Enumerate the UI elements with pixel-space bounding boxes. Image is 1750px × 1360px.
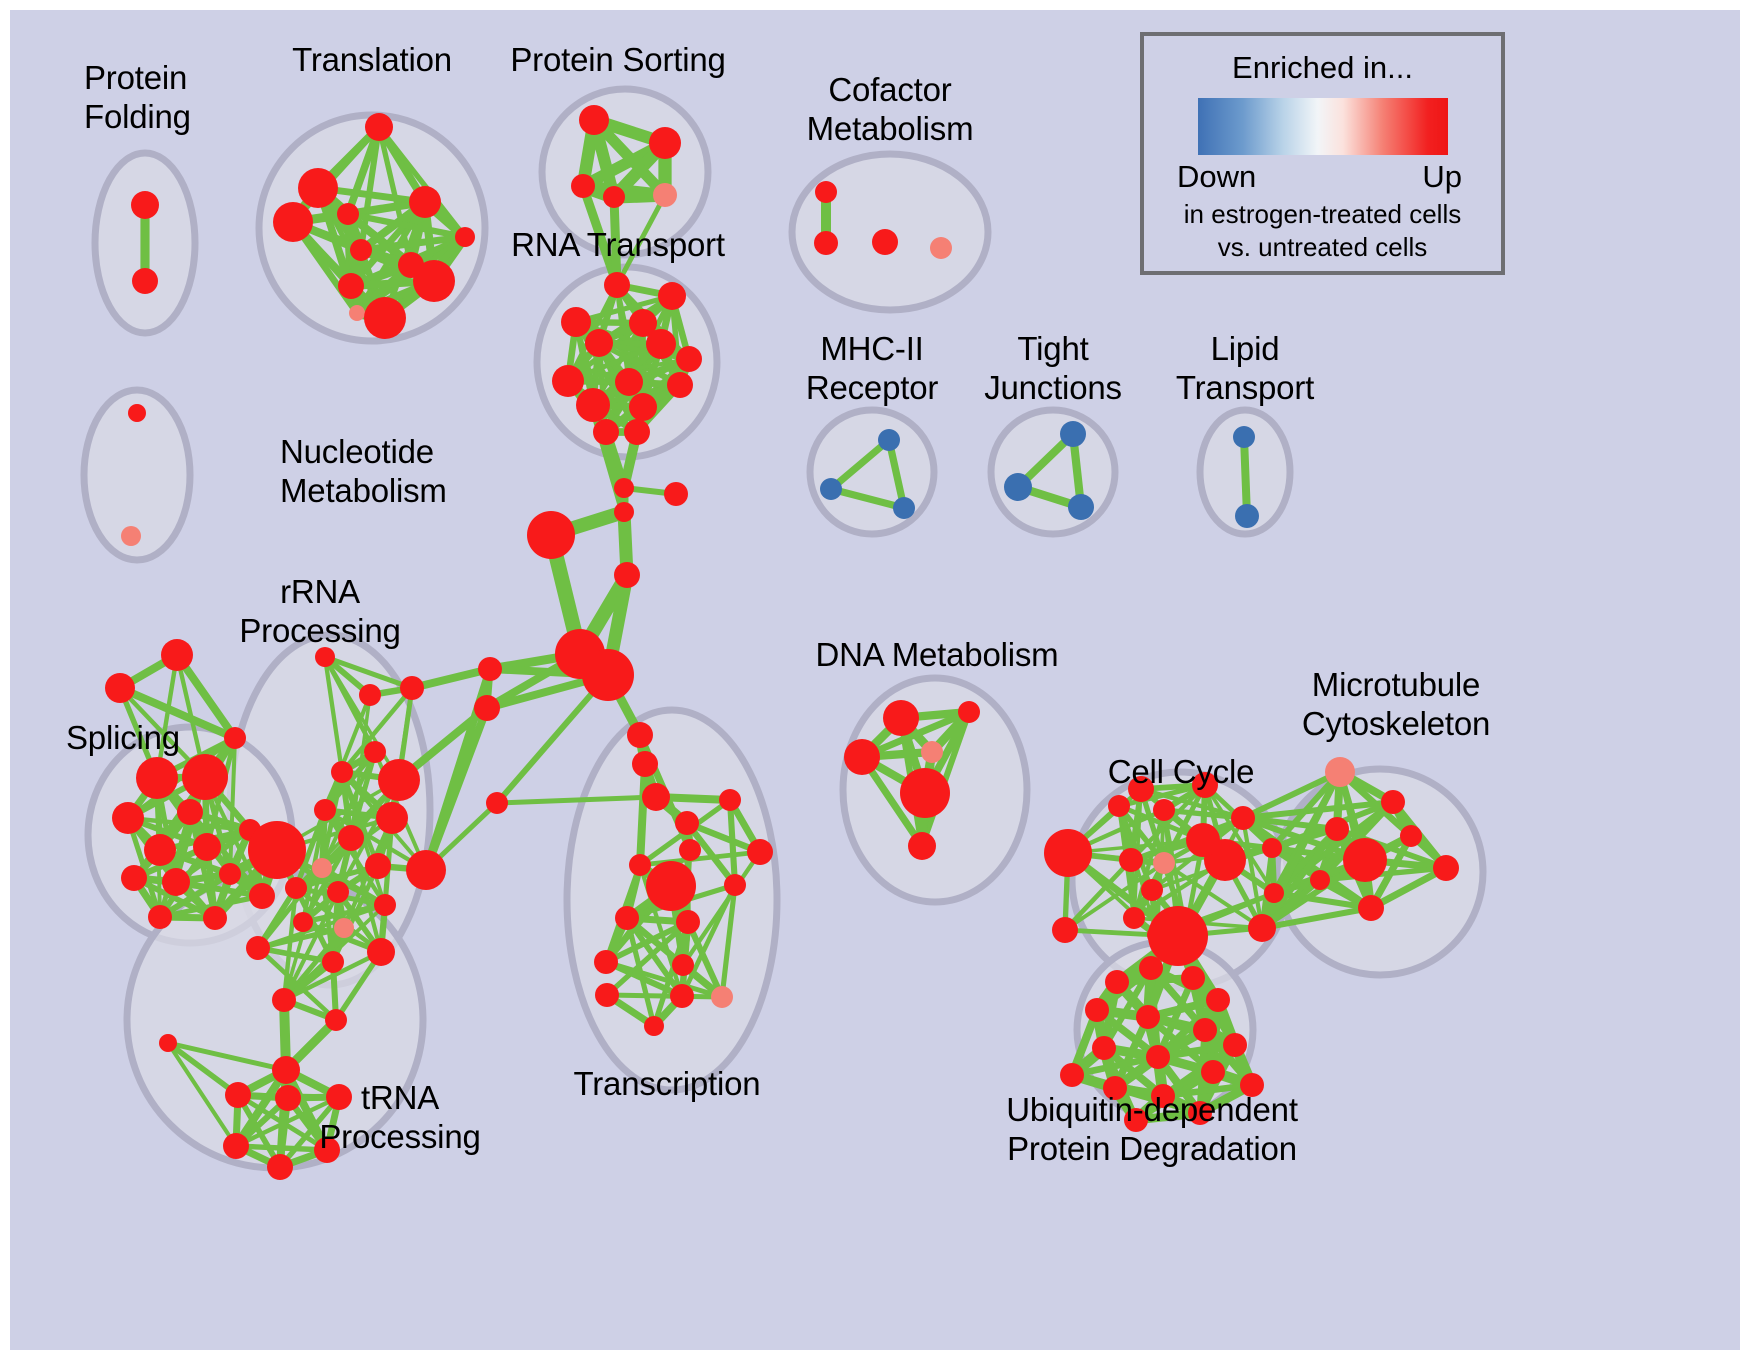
network-node[interactable]: [315, 647, 335, 667]
network-edge: [412, 669, 490, 688]
network-node[interactable]: [132, 268, 158, 294]
network-node[interactable]: [1201, 1060, 1225, 1084]
network-node[interactable]: [1044, 829, 1092, 877]
network-node[interactable]: [1153, 799, 1175, 821]
cluster-label-trna-processing: tRNAProcessing: [319, 1078, 480, 1156]
network-node[interactable]: [1108, 795, 1130, 817]
network-node[interactable]: [1052, 917, 1078, 943]
network-node[interactable]: [1060, 1063, 1084, 1087]
cluster-region-mhc-ii-receptor[interactable]: [810, 410, 934, 534]
cluster-label-protein-sorting: Protein Sorting: [510, 40, 725, 79]
network-node[interactable]: [878, 429, 900, 451]
network-node[interactable]: [679, 839, 701, 861]
legend-box: Enriched in... Down Up in estrogen-treat…: [1140, 32, 1505, 275]
cluster-label-cell-cycle: Cell Cycle: [1108, 752, 1255, 791]
network-node[interactable]: [364, 741, 386, 763]
network-node[interactable]: [649, 127, 681, 159]
network-node[interactable]: [724, 874, 746, 896]
network-node[interactable]: [1092, 1036, 1116, 1060]
network-node[interactable]: [219, 863, 241, 885]
legend-caption-line-2: vs. untreated cells: [1144, 232, 1501, 263]
figure-canvas: ProteinFoldingTranslationProtein Sorting…: [0, 0, 1750, 1360]
network-node[interactable]: [455, 227, 475, 247]
cluster-label-rna-transport: RNA Transport: [511, 225, 725, 264]
network-node[interactable]: [1068, 494, 1094, 520]
network-node[interactable]: [285, 877, 307, 899]
network-node[interactable]: [582, 649, 634, 701]
network-node[interactable]: [664, 482, 688, 506]
network-node[interactable]: [719, 789, 741, 811]
network-node[interactable]: [675, 811, 699, 835]
network-node[interactable]: [1235, 504, 1259, 528]
cluster-region-tight-junctions[interactable]: [991, 410, 1115, 534]
network-node[interactable]: [177, 799, 203, 825]
network-node[interactable]: [1262, 838, 1282, 858]
network-node[interactable]: [604, 272, 630, 298]
network-node[interactable]: [872, 229, 898, 255]
network-node[interactable]: [614, 478, 634, 498]
network-node[interactable]: [1181, 966, 1205, 990]
network-node[interactable]: [1400, 825, 1422, 847]
network-node[interactable]: [314, 799, 336, 821]
network-node[interactable]: [1231, 806, 1255, 830]
network-node[interactable]: [272, 1056, 300, 1084]
network-node[interactable]: [406, 850, 446, 890]
network-node[interactable]: [1358, 895, 1384, 921]
network-node[interactable]: [615, 368, 643, 396]
network-node[interactable]: [908, 832, 936, 860]
network-node[interactable]: [1206, 988, 1230, 1012]
network-node[interactable]: [624, 419, 650, 445]
network-node[interactable]: [275, 1085, 301, 1111]
network-node[interactable]: [159, 1034, 177, 1052]
legend-title: Enriched in...: [1144, 50, 1501, 86]
network-node[interactable]: [338, 273, 364, 299]
network-node[interactable]: [223, 1133, 249, 1159]
cluster-label-microtubule: MicrotubuleCytoskeleton: [1302, 665, 1490, 743]
network-node[interactable]: [670, 984, 694, 1008]
network-node[interactable]: [136, 757, 178, 799]
network-node[interactable]: [1119, 848, 1143, 872]
network-node[interactable]: [815, 181, 837, 203]
network-edge: [640, 764, 645, 865]
network-node[interactable]: [1148, 906, 1208, 966]
network-node[interactable]: [1264, 883, 1284, 903]
network-node[interactable]: [627, 722, 653, 748]
network-node[interactable]: [144, 834, 176, 866]
network-node[interactable]: [672, 954, 694, 976]
cluster-label-ubiquitin-degradation: Ubiquitin-dependentProtein Degradation: [1006, 1090, 1298, 1168]
network-node[interactable]: [1136, 1005, 1160, 1029]
network-node[interactable]: [1141, 879, 1163, 901]
network-node[interactable]: [293, 912, 313, 932]
network-node[interactable]: [374, 894, 396, 916]
network-node[interactable]: [585, 329, 613, 357]
network-node[interactable]: [322, 951, 344, 973]
network-node[interactable]: [1123, 907, 1145, 929]
network-node[interactable]: [367, 938, 395, 966]
network-node[interactable]: [1105, 970, 1129, 994]
network-node[interactable]: [900, 768, 950, 818]
network-node[interactable]: [1381, 790, 1405, 814]
network-node[interactable]: [667, 372, 693, 398]
network-node[interactable]: [646, 861, 696, 911]
network-node[interactable]: [413, 260, 455, 302]
network-node[interactable]: [1233, 426, 1255, 448]
network-node[interactable]: [349, 305, 365, 321]
network-node[interactable]: [1248, 914, 1276, 942]
network-node[interactable]: [593, 419, 619, 445]
network-node[interactable]: [1153, 852, 1175, 874]
network-node[interactable]: [595, 983, 619, 1007]
network-node[interactable]: [614, 502, 634, 522]
legend-caption-line-1: in estrogen-treated cells: [1144, 199, 1501, 230]
network-node[interactable]: [365, 113, 393, 141]
network-node[interactable]: [883, 700, 919, 736]
network-node[interactable]: [248, 821, 306, 879]
network-node[interactable]: [561, 307, 591, 337]
network-node[interactable]: [1325, 817, 1349, 841]
cluster-label-splicing: Splicing: [66, 718, 180, 757]
legend-high-label: Up: [1422, 159, 1462, 195]
legend-low-label: Down: [1177, 159, 1256, 195]
network-node[interactable]: [203, 906, 227, 930]
network-node[interactable]: [1223, 1033, 1247, 1057]
network-node[interactable]: [182, 754, 228, 800]
network-node[interactable]: [486, 792, 508, 814]
network-node[interactable]: [128, 404, 146, 422]
network-node[interactable]: [571, 174, 595, 198]
network-node[interactable]: [376, 802, 408, 834]
network-node[interactable]: [193, 833, 221, 861]
network-node[interactable]: [365, 853, 391, 879]
network-node[interactable]: [337, 203, 359, 225]
network-node[interactable]: [162, 868, 190, 896]
network-node[interactable]: [325, 1009, 347, 1031]
network-node[interactable]: [820, 478, 842, 500]
network-node[interactable]: [642, 783, 670, 811]
network-node[interactable]: [921, 741, 943, 763]
network-node[interactable]: [594, 950, 618, 974]
network-node[interactable]: [1139, 956, 1163, 980]
network-node[interactable]: [1193, 1018, 1217, 1042]
network-node[interactable]: [1325, 757, 1355, 787]
network-node[interactable]: [273, 202, 313, 242]
network-node[interactable]: [1433, 855, 1459, 881]
network-node[interactable]: [614, 562, 640, 588]
network-node[interactable]: [105, 673, 135, 703]
network-node[interactable]: [1343, 838, 1387, 882]
cluster-label-lipid-transport: LipidTransport: [1176, 329, 1314, 407]
network-node[interactable]: [327, 881, 349, 903]
network-node[interactable]: [676, 910, 700, 934]
network-node[interactable]: [629, 854, 651, 876]
network-node[interactable]: [579, 105, 609, 135]
network-node[interactable]: [644, 1016, 664, 1036]
legend-color-gradient: [1198, 98, 1448, 155]
network-node[interactable]: [161, 639, 193, 671]
network-node[interactable]: [225, 1082, 251, 1108]
network-node[interactable]: [844, 739, 880, 775]
network-node[interactable]: [121, 526, 141, 546]
network-node[interactable]: [615, 906, 639, 930]
network-node[interactable]: [814, 231, 838, 255]
network-node[interactable]: [676, 346, 702, 372]
network-node[interactable]: [350, 239, 372, 261]
network-node[interactable]: [1085, 998, 1109, 1022]
network-node[interactable]: [747, 839, 773, 865]
network-node[interactable]: [552, 365, 584, 397]
network-node[interactable]: [409, 186, 441, 218]
network-node[interactable]: [1146, 1045, 1170, 1069]
cluster-label-nucleotide-metabolism: NucleotideMetabolism: [280, 432, 447, 510]
network-node[interactable]: [267, 1154, 293, 1180]
network-node[interactable]: [653, 183, 677, 207]
cluster-label-rrna-processing: rRNAProcessing: [239, 572, 400, 650]
network-node[interactable]: [364, 297, 406, 339]
network-edge: [607, 995, 722, 997]
network-node[interactable]: [1060, 421, 1086, 447]
network-node[interactable]: [958, 701, 980, 723]
network-node[interactable]: [400, 676, 424, 700]
network-node[interactable]: [312, 858, 332, 878]
network-node[interactable]: [474, 695, 500, 721]
network-node[interactable]: [527, 511, 575, 559]
network-node[interactable]: [893, 497, 915, 519]
cluster-label-mhc-ii-receptor: MHC-IIReceptor: [806, 329, 938, 407]
network-node[interactable]: [246, 936, 270, 960]
cluster-label-protein-folding: ProteinFolding: [84, 58, 191, 136]
network-node[interactable]: [359, 684, 381, 706]
cluster-label-dna-metabolism: DNA Metabolism: [816, 635, 1059, 674]
network-node[interactable]: [629, 393, 657, 421]
network-node[interactable]: [478, 657, 502, 681]
network-node[interactable]: [1186, 823, 1220, 857]
network-node[interactable]: [378, 759, 420, 801]
network-node[interactable]: [112, 802, 144, 834]
network-node[interactable]: [711, 986, 733, 1008]
network-node[interactable]: [148, 905, 172, 929]
network-node[interactable]: [249, 883, 275, 909]
network-node[interactable]: [603, 186, 625, 208]
network-node[interactable]: [632, 751, 658, 777]
network-node[interactable]: [1004, 473, 1032, 501]
network-node[interactable]: [331, 761, 353, 783]
network-node[interactable]: [1310, 870, 1330, 890]
network-node[interactable]: [576, 388, 610, 422]
cluster-label-tight-junctions: TightJunctions: [984, 329, 1122, 407]
network-node[interactable]: [334, 918, 354, 938]
network-node[interactable]: [131, 191, 159, 219]
network-node[interactable]: [298, 168, 338, 208]
network-node[interactable]: [658, 282, 686, 310]
network-node[interactable]: [224, 727, 246, 749]
cluster-label-cofactor-metabolism: CofactorMetabolism: [807, 70, 974, 148]
network-node[interactable]: [646, 329, 676, 359]
network-node[interactable]: [338, 825, 364, 851]
network-node[interactable]: [930, 237, 952, 259]
cluster-label-transcription: Transcription: [574, 1064, 761, 1103]
cluster-label-translation: Translation: [292, 40, 452, 79]
network-node[interactable]: [272, 988, 296, 1012]
network-node[interactable]: [121, 865, 147, 891]
